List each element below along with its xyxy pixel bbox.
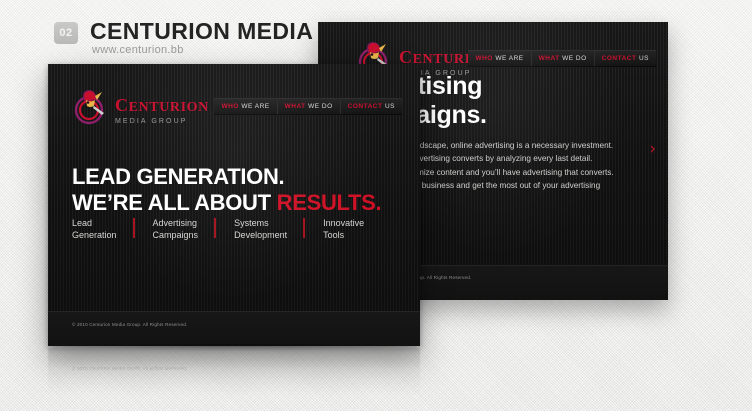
- site-url: www.centurion.bb: [92, 44, 184, 56]
- logo-name: CENTURION: [115, 100, 209, 115]
- feature-label-line2: Development: [234, 230, 287, 240]
- chevron-right-icon[interactable]: ›: [649, 141, 656, 158]
- nav-rest: WE DO: [308, 103, 333, 110]
- nav-item-contact-us[interactable]: CONTACT US: [595, 51, 656, 66]
- feature-columns: LeadGeneration AdvertisingCampaigns Syst…: [72, 217, 400, 241]
- nav-item-who-we-are[interactable]: WHO WE ARE: [214, 99, 277, 114]
- nav-highlight: CONTACT: [602, 55, 637, 62]
- nav-highlight: WHO: [475, 55, 492, 62]
- section-number-badge: 02: [54, 22, 78, 44]
- feature-column-innovative-tools[interactable]: InnovativeTools: [323, 217, 382, 241]
- feature-label-line1: Innovative: [323, 218, 364, 228]
- feature-label-line1: Lead: [72, 218, 92, 228]
- nav-item-who-we-are[interactable]: WHO WE ARE: [468, 51, 531, 66]
- feature-label-line1: Advertising: [153, 218, 198, 228]
- front-window-footer: © 2010 Centurion Media Group. All Rights…: [48, 311, 420, 346]
- nav-highlight: WHAT: [285, 103, 306, 110]
- nav-rest: US: [385, 103, 395, 110]
- front-window-headline: LEAD GENERATION. WE’RE ALL ABOUT RESULTS…: [72, 164, 381, 215]
- feature-column-lead-generation[interactable]: LeadGeneration: [72, 217, 135, 241]
- nav-highlight: WHAT: [539, 55, 560, 62]
- nav-item-what-we-do[interactable]: WHAT WE DO: [278, 99, 341, 114]
- feature-label-line2: Generation: [72, 230, 117, 240]
- nav-rest: US: [639, 55, 649, 62]
- feature-column-systems-development[interactable]: SystemsDevelopment: [234, 217, 305, 241]
- front-window-navigation[interactable]: WHO WE ARE WHAT WE DO CONTACT US: [214, 98, 402, 115]
- nav-highlight: WHO: [221, 103, 238, 110]
- reflection-copyright-text: © 2010 Centurion Media Group. All Rights…: [72, 366, 187, 371]
- window-reflection: [48, 348, 420, 404]
- nav-highlight: CONTACT: [348, 103, 383, 110]
- site-logo[interactable]: CENTURION MEDIA GROUP: [72, 86, 209, 126]
- nav-rest: WE DO: [562, 55, 587, 62]
- nav-rest: WE ARE: [495, 55, 523, 62]
- front-browser-window[interactable]: CENTURION MEDIA GROUP WHO WE ARE WHAT WE…: [48, 64, 420, 346]
- centurion-helmet-icon: [72, 86, 112, 126]
- nav-item-what-we-do[interactable]: WHAT WE DO: [532, 51, 595, 66]
- headline-plain: WE’RE ALL ABOUT: [72, 190, 277, 215]
- logo-wordmark: CENTURION MEDIA GROUP: [115, 96, 209, 125]
- headline-line-1: LEAD GENERATION.: [72, 164, 381, 190]
- headline-line-2: WE’RE ALL ABOUT RESULTS.: [72, 190, 381, 216]
- front-window-content: CENTURION MEDIA GROUP WHO WE ARE WHAT WE…: [48, 64, 420, 346]
- page-title: CENTURION MEDIA: [90, 18, 313, 45]
- logo-subtitle: MEDIA GROUP: [115, 118, 209, 125]
- feature-label-line2: Campaigns: [153, 230, 199, 240]
- nav-item-contact-us[interactable]: CONTACT US: [341, 99, 402, 114]
- back-window-navigation[interactable]: WHO WE ARE WHAT WE DO CONTACT US: [468, 50, 656, 67]
- feature-column-advertising-campaigns[interactable]: AdvertisingCampaigns: [153, 217, 217, 241]
- nav-rest: WE ARE: [241, 103, 269, 110]
- copyright-text: © 2010 Centurion Media Group. All Rights…: [72, 322, 187, 327]
- feature-label-line2: Tools: [323, 230, 344, 240]
- feature-label-line1: Systems: [234, 218, 269, 228]
- headline-accent: RESULTS.: [277, 190, 382, 215]
